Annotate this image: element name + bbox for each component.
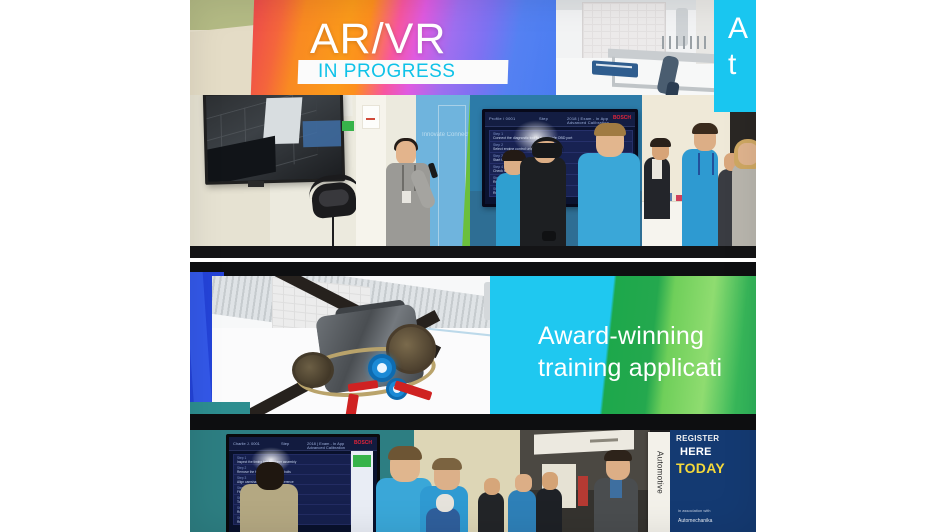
ui-bosch-logo: BOSCH [354, 440, 372, 446]
visitor-head [515, 474, 532, 492]
visitor-hair [604, 450, 632, 461]
booth-floor-scene: BOSCH Invented for life [190, 95, 756, 258]
engine-3d-model [290, 304, 450, 414]
ui-header-left: Profile / 0001 [489, 116, 515, 121]
register-here-banner: REGISTER HERE TODAY in association with … [670, 428, 756, 532]
visitor-figure [536, 488, 562, 532]
staff-hair [388, 446, 422, 460]
wall-mounted-tv [203, 95, 345, 185]
teal-card-line2: t [728, 50, 736, 80]
ui-header-sub: Advanced Calibration [307, 445, 345, 450]
visitor-shirt [652, 159, 662, 179]
ui-green-indicator [342, 121, 354, 131]
bottom-panel-photo: Award-winning training applicati Charlie… [190, 262, 756, 532]
award-headline-card: Award-winning training applicati [490, 276, 756, 425]
visitor-figure [732, 163, 756, 258]
staff-figure [578, 153, 640, 258]
visitor-head [436, 494, 454, 512]
tv-mount-bracket [248, 181, 264, 187]
staff-hair [594, 123, 626, 136]
work-in-progress-label: IN PROGRESS [318, 60, 455, 84]
vr-user-headset [532, 143, 562, 158]
visitor-hair [692, 123, 718, 134]
top-panel-photo: AR/VR IN PROGRESS [190, 0, 756, 258]
hall-red-panel [578, 476, 588, 506]
vr-user-controller [542, 231, 556, 241]
visitor-head [738, 143, 756, 165]
presenter-badge [402, 191, 411, 203]
vr-headset-on-wall [310, 181, 357, 219]
staff-hair [432, 458, 462, 470]
tv-scene-blue-object [303, 120, 342, 147]
automotive-sign-label: Automotive [656, 433, 665, 513]
foreground-viewer-head [256, 462, 284, 490]
vr-user-figure [520, 157, 566, 258]
visitor-head [542, 472, 558, 490]
vr-tool-rack [662, 36, 710, 50]
engine-pulley-small [292, 352, 334, 388]
visitor-lanyard [698, 153, 714, 175]
collage-divider [190, 258, 756, 262]
trade-show-crowd-scene: Charlie J. 0001 Step 2018 | Exam - In Ap… [190, 428, 756, 532]
engine-highlight-marker-1[interactable] [368, 354, 396, 382]
presenter-figure [386, 141, 430, 258]
tv-screen [206, 95, 342, 182]
visitor-hair [650, 138, 671, 147]
visitor-head [484, 478, 500, 495]
automotive-vertical-sign: Automotive [648, 432, 670, 532]
arvr-headline: AR/VR [310, 18, 446, 61]
engine-and-headline-scene: Award-winning training applicati [190, 262, 756, 425]
ui-header-mid: Step [281, 441, 289, 446]
award-headline-line1: Award-winning [538, 322, 704, 352]
register-line-1: REGISTER [676, 434, 719, 443]
bottom-panel-mid-divider [190, 414, 756, 430]
presenter-head [396, 141, 416, 165]
foreground-viewer-figure [240, 484, 298, 532]
award-headline-line2: training applicati [538, 354, 722, 384]
screenshot-root: AR/VR IN PROGRESS [0, 0, 945, 532]
teal-card-line1: A [728, 14, 748, 44]
register-line-3: TODAY [676, 460, 725, 476]
visitor-shirt [610, 478, 622, 498]
photo-collage: AR/VR IN PROGRESS [190, 0, 756, 532]
register-footnote: in association with [678, 508, 710, 513]
register-line-2: HERE [680, 446, 712, 458]
booth-poster [362, 105, 380, 129]
teal-headline-card-top: A t [714, 0, 756, 112]
ui-header-left: Charlie J. 0001 [233, 441, 260, 446]
register-brand: Automechanika [678, 518, 712, 524]
visitor-figure [508, 490, 536, 532]
ui-bosch-logo: BOSCH [613, 115, 631, 121]
ui-green-indicator [353, 455, 371, 467]
visitor-figure [478, 492, 504, 532]
top-panel-bottom-edge [190, 246, 756, 258]
